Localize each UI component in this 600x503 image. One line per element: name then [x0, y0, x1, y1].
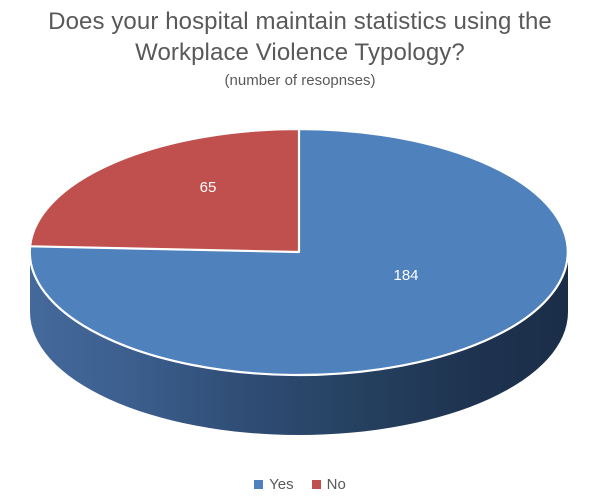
pie-slice-no[interactable] [30, 129, 299, 252]
pie-chart-figure: Does your hospital maintain statistics u… [0, 0, 600, 503]
legend-label-no: No [327, 476, 346, 494]
legend-item-yes[interactable]: Yes [254, 476, 293, 494]
pie-label-no: 65 [200, 179, 217, 196]
legend-label-yes: Yes [269, 476, 293, 494]
legend-swatch-yes-icon [254, 480, 263, 489]
legend-swatch-no-icon [312, 480, 321, 489]
legend-item-no[interactable]: No [312, 476, 346, 494]
pie-svg: 65 184 [0, 0, 600, 465]
chart-legend: Yes No [0, 466, 600, 503]
pie-plot-area: 65 184 [0, 0, 600, 465]
pie-top-surface [30, 129, 568, 375]
pie-label-yes: 184 [393, 267, 418, 284]
